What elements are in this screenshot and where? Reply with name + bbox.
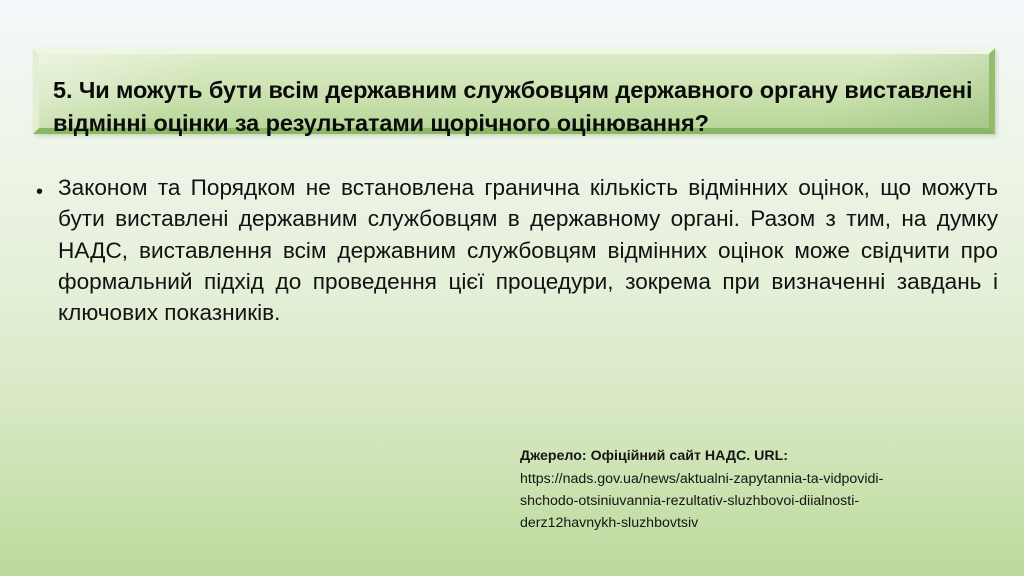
- slide-canvas: 5. Чи можуть бути всім державним службов…: [0, 0, 1024, 576]
- bullet-icon: •: [36, 172, 58, 202]
- slide-body: • Законом та Порядком не встановлена гра…: [36, 172, 998, 328]
- source-citation: Джерело: Офіційний сайт НАДС. URL: https…: [520, 446, 990, 535]
- source-url[interactable]: https://nads.gov.ua/news/aktualni-zapyta…: [520, 468, 990, 535]
- source-label: Джерело: Офіційний сайт НАДС. URL:: [520, 446, 990, 467]
- source-url-line: https://nads.gov.ua/news/aktualni-zapyta…: [520, 468, 990, 490]
- slide-title-banner: 5. Чи можуть бути всім державним службов…: [33, 48, 995, 134]
- list-item: • Законом та Порядком не встановлена гра…: [36, 172, 998, 328]
- page-title: 5. Чи можуть бути всім державним службов…: [39, 70, 989, 141]
- source-url-line: derz12havnykh-sluzhbovtsiv: [520, 512, 990, 534]
- source-url-line: shchodo-otsiniuvannia-rezultativ-sluzhbo…: [520, 490, 990, 512]
- body-paragraph: Законом та Порядком не встановлена грани…: [58, 172, 998, 328]
